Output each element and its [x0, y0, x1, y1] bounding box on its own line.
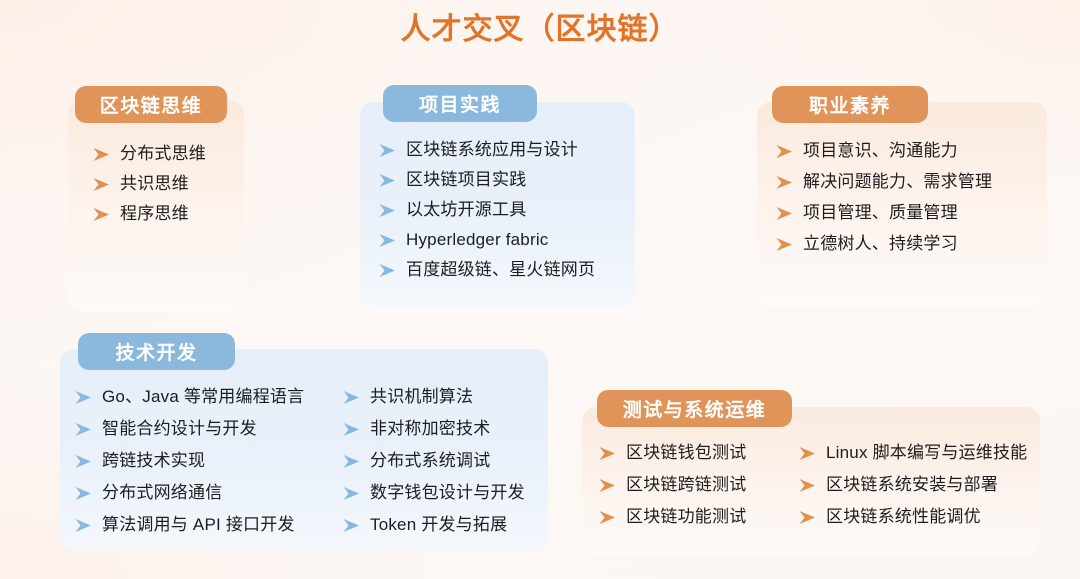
arrow-icon: [92, 203, 111, 226]
arrow-icon: [598, 506, 617, 529]
list-item-label: 分布式系统调试: [370, 449, 490, 472]
card-items-testing-and-ops: 区块链钱包测试 区块链跨链测试 区块链功能测试 Linux 脚本编写与运维技能 …: [598, 441, 1038, 541]
card-header-label: 技术开发: [115, 338, 197, 365]
card-header-label: 项目实践: [419, 90, 501, 117]
list-item-label: Go、Java 等常用编程语言: [102, 385, 304, 408]
list-item-label: 程序思维: [120, 202, 189, 225]
arrow-icon: [378, 229, 397, 252]
card-header-blockchain-thinking: 区块链思维: [75, 86, 227, 123]
arrow-icon: [378, 199, 397, 222]
list-item[interactable]: 区块链钱包测试: [598, 441, 783, 464]
item-column: 项目意识、沟通能力 解决问题能力、需求管理 项目管理、质量管理 立德树人、持续学…: [775, 139, 992, 263]
list-item[interactable]: 项目意识、沟通能力: [775, 139, 992, 162]
arrow-icon: [74, 514, 93, 537]
list-item[interactable]: 分布式思维: [92, 142, 206, 165]
list-item-label: Token 开发与拓展: [370, 513, 507, 536]
list-item[interactable]: Linux 脚本编写与运维技能: [798, 441, 1033, 464]
arrow-icon: [378, 139, 397, 162]
list-item[interactable]: Go、Java 等常用编程语言: [74, 385, 314, 408]
list-item[interactable]: Hyperledger fabric: [378, 228, 595, 251]
list-item[interactable]: 分布式系统调试: [342, 449, 552, 472]
card-header-project-practice: 项目实践: [383, 85, 537, 122]
list-item-label: 数字钱包设计与开发: [370, 481, 525, 504]
arrow-icon: [775, 140, 794, 163]
card-items-technical-development: Go、Java 等常用编程语言 智能合约设计与开发 跨链技术实现 分布式网络通信…: [74, 385, 544, 535]
list-item[interactable]: 区块链系统应用与设计: [378, 138, 595, 161]
arrow-icon: [378, 169, 397, 192]
list-item[interactable]: 百度超级链、星火链网页: [378, 258, 595, 281]
list-item-label: 区块链功能测试: [626, 505, 746, 528]
card-header-label: 区块链思维: [100, 91, 203, 118]
list-item-label: Hyperledger fabric: [406, 228, 549, 251]
arrow-icon: [92, 173, 111, 196]
arrow-icon: [798, 506, 817, 529]
arrow-icon: [342, 450, 361, 473]
arrow-icon: [342, 386, 361, 409]
list-item[interactable]: 区块链系统安装与部署: [798, 473, 1033, 496]
arrow-icon: [378, 259, 397, 282]
list-item-label: 分布式网络通信: [102, 481, 222, 504]
list-item-label: 百度超级链、星火链网页: [406, 258, 595, 281]
list-item[interactable]: 区块链功能测试: [598, 505, 783, 528]
list-item-label: 分布式思维: [120, 142, 206, 165]
list-item-label: 区块链项目实践: [406, 168, 526, 191]
card-header-technical-development: 技术开发: [78, 333, 235, 370]
list-item-label: 区块链系统性能调优: [826, 505, 981, 528]
item-column: 区块链系统应用与设计 区块链项目实践 以太坊开源工具 Hyperledger f…: [378, 138, 595, 288]
list-item[interactable]: 共识思维: [92, 172, 206, 195]
item-column: 共识机制算法 非对称加密技术 分布式系统调试 数字钱包设计与开发 Token 开…: [342, 385, 552, 545]
item-column: Go、Java 等常用编程语言 智能合约设计与开发 跨链技术实现 分布式网络通信…: [74, 385, 314, 545]
arrow-icon: [74, 418, 93, 441]
arrow-icon: [775, 202, 794, 225]
list-item[interactable]: 区块链跨链测试: [598, 473, 783, 496]
arrow-icon: [74, 450, 93, 473]
card-header-professional-quality: 职业素养: [772, 86, 928, 123]
item-column: Linux 脚本编写与运维技能 区块链系统安装与部署 区块链系统性能调优: [798, 441, 1033, 537]
list-item[interactable]: 区块链项目实践: [378, 168, 595, 191]
list-item[interactable]: 解决问题能力、需求管理: [775, 170, 992, 193]
list-item-label: 以太坊开源工具: [406, 198, 526, 221]
list-item-label: 立德树人、持续学习: [803, 232, 958, 255]
item-column: 分布式思维 共识思维 程序思维: [92, 142, 206, 232]
arrow-icon: [598, 474, 617, 497]
list-item-label: 区块链系统安装与部署: [826, 473, 998, 496]
list-item[interactable]: 数字钱包设计与开发: [342, 481, 552, 504]
list-item[interactable]: 区块链系统性能调优: [798, 505, 1033, 528]
list-item-label: 智能合约设计与开发: [102, 417, 257, 440]
list-item-label: 共识思维: [120, 172, 189, 195]
arrow-icon: [598, 442, 617, 465]
item-column: 区块链钱包测试 区块链跨链测试 区块链功能测试: [598, 441, 783, 537]
arrow-icon: [74, 386, 93, 409]
list-item-label: 区块链系统应用与设计: [406, 138, 578, 161]
arrow-icon: [74, 482, 93, 505]
arrow-icon: [798, 442, 817, 465]
list-item[interactable]: 非对称加密技术: [342, 417, 552, 440]
list-item-label: 项目意识、沟通能力: [803, 139, 958, 162]
list-item-label: 非对称加密技术: [370, 417, 490, 440]
list-item[interactable]: Token 开发与拓展: [342, 513, 552, 536]
list-item-label: 算法调用与 API 接口开发: [102, 513, 295, 536]
card-header-testing-and-ops: 测试与系统运维: [597, 390, 792, 427]
list-item[interactable]: 共识机制算法: [342, 385, 552, 408]
list-item-label: 区块链钱包测试: [626, 441, 746, 464]
list-item-label: 项目管理、质量管理: [803, 201, 958, 224]
list-item-label: Linux 脚本编写与运维技能: [826, 441, 1027, 464]
arrow-icon: [775, 233, 794, 256]
list-item[interactable]: 智能合约设计与开发: [74, 417, 314, 440]
list-item-label: 共识机制算法: [370, 385, 473, 408]
arrow-icon: [342, 514, 361, 537]
list-item[interactable]: 以太坊开源工具: [378, 198, 595, 221]
card-header-label: 测试与系统运维: [623, 395, 767, 422]
list-item[interactable]: 算法调用与 API 接口开发: [74, 513, 314, 536]
arrow-icon: [775, 171, 794, 194]
list-item-label: 解决问题能力、需求管理: [803, 170, 992, 193]
list-item[interactable]: 分布式网络通信: [74, 481, 314, 504]
arrow-icon: [798, 474, 817, 497]
arrow-icon: [92, 143, 111, 166]
list-item[interactable]: 程序思维: [92, 202, 206, 225]
arrow-icon: [342, 482, 361, 505]
page-title: 人才交叉（区块链）: [0, 8, 1080, 52]
slide-canvas: 人才交叉（区块链） 区块链思维 分布式思维 共识思维 程序思维 项目实践: [0, 0, 1080, 579]
list-item[interactable]: 项目管理、质量管理: [775, 201, 992, 224]
list-item[interactable]: 跨链技术实现: [74, 449, 314, 472]
list-item[interactable]: 立德树人、持续学习: [775, 232, 992, 255]
list-item-label: 区块链跨链测试: [626, 473, 746, 496]
card-header-label: 职业素养: [809, 91, 891, 118]
list-item-label: 跨链技术实现: [102, 449, 205, 472]
arrow-icon: [342, 418, 361, 441]
